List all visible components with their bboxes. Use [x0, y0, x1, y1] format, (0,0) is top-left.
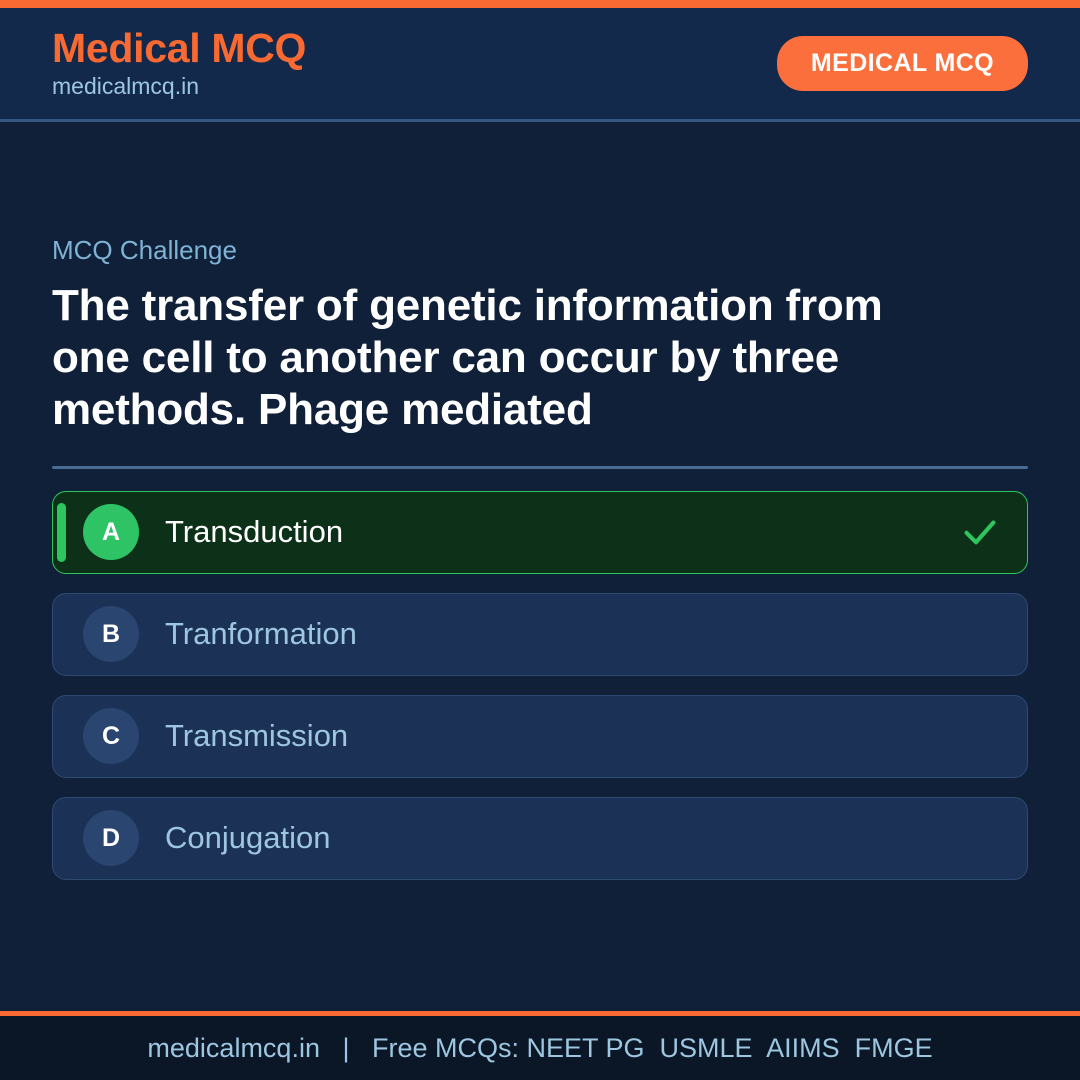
options-list: A Transduction B Tranformation C Transmi…: [52, 491, 1028, 880]
top-accent-rule: [0, 0, 1080, 8]
option-label: Conjugation: [165, 821, 999, 855]
question-text: The transfer of genetic information from…: [52, 280, 932, 436]
option-label: Tranformation: [165, 617, 999, 651]
correct-accent-bar: [57, 503, 66, 562]
mcq-card: Medical MCQ medicalmcq.in MEDICAL MCQ MC…: [0, 0, 1080, 1080]
option-letter-badge: C: [83, 708, 139, 764]
question-divider: [52, 466, 1028, 469]
option-d[interactable]: D Conjugation: [52, 797, 1028, 880]
option-label: Transduction: [165, 515, 961, 549]
checkmark-icon: [961, 513, 999, 551]
option-label: Transmission: [165, 719, 999, 753]
header-bar: Medical MCQ medicalmcq.in MEDICAL MCQ: [0, 8, 1080, 122]
footer-text: medicalmcq.in | Free MCQs: NEET PG USMLE…: [147, 1035, 932, 1062]
option-c[interactable]: C Transmission: [52, 695, 1028, 778]
option-letter-badge: B: [83, 606, 139, 662]
header-badge: MEDICAL MCQ: [777, 36, 1028, 91]
option-letter-badge: D: [83, 810, 139, 866]
brand-block: Medical MCQ medicalmcq.in: [52, 26, 306, 101]
option-b[interactable]: B Tranformation: [52, 593, 1028, 676]
footer-bar: medicalmcq.in | Free MCQs: NEET PG USMLE…: [0, 1016, 1080, 1080]
brand-title: Medical MCQ: [52, 26, 306, 70]
option-letter-badge: A: [83, 504, 139, 560]
kicker-label: MCQ Challenge: [52, 235, 1028, 266]
main-content: MCQ Challenge The transfer of genetic in…: [0, 122, 1080, 1011]
brand-subtitle: medicalmcq.in: [52, 72, 306, 101]
option-a[interactable]: A Transduction: [52, 491, 1028, 574]
